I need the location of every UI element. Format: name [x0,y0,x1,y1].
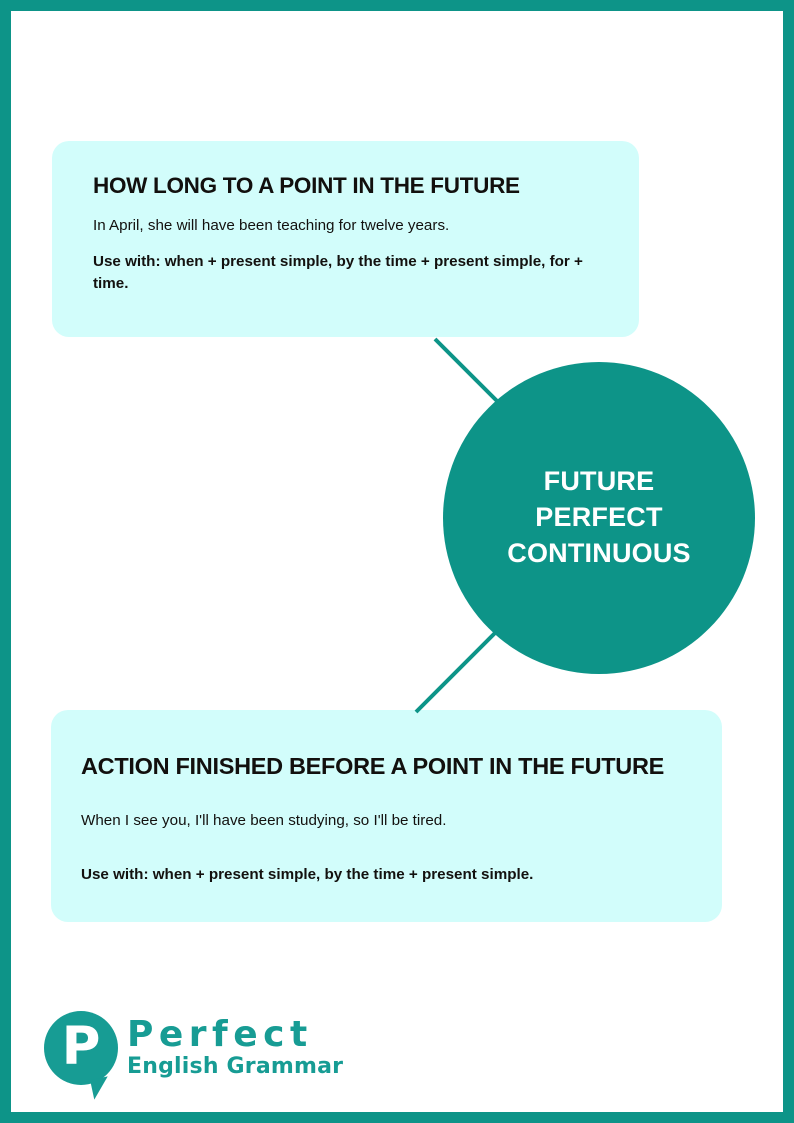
speech-bubble-icon: P [44,1011,118,1085]
card-example-sentence: In April, she will have been teaching fo… [93,216,598,237]
central-topic-circle: FUTURE PERFECT CONTINUOUS [443,362,755,674]
poster-page: HOW LONG TO A POINT IN THE FUTURE In Apr… [0,0,794,1123]
connector-line-bottom [415,622,506,713]
card-usage-note: Use with: when + present simple, by the … [81,864,692,886]
brand-logo: P Perfect English Grammar [44,1011,343,1085]
card-how-long-to-a-point-in-the-future: HOW LONG TO A POINT IN THE FUTURE In Apr… [52,141,639,337]
logo-wordmark: Perfect English Grammar [127,1017,343,1080]
poster-canvas: HOW LONG TO A POINT IN THE FUTURE In Apr… [11,11,783,1112]
card-usage-note: Use with: when + present simple, by the … [93,251,598,294]
logo-letter-p: P [62,1020,101,1073]
logo-brand-name: Perfect [127,1017,343,1054]
card-title: ACTION FINISHED BEFORE A POINT IN THE FU… [81,754,692,780]
card-example-sentence: When I see you, I'll have been studying,… [81,811,692,832]
logo-brand-tagline: English Grammar [127,1055,343,1079]
card-title: HOW LONG TO A POINT IN THE FUTURE [93,174,598,199]
central-topic-label: FUTURE PERFECT CONTINUOUS [507,464,691,572]
connector-line-top [434,338,505,409]
card-action-finished-before-a-point-in-the-future: ACTION FINISHED BEFORE A POINT IN THE FU… [51,710,722,922]
